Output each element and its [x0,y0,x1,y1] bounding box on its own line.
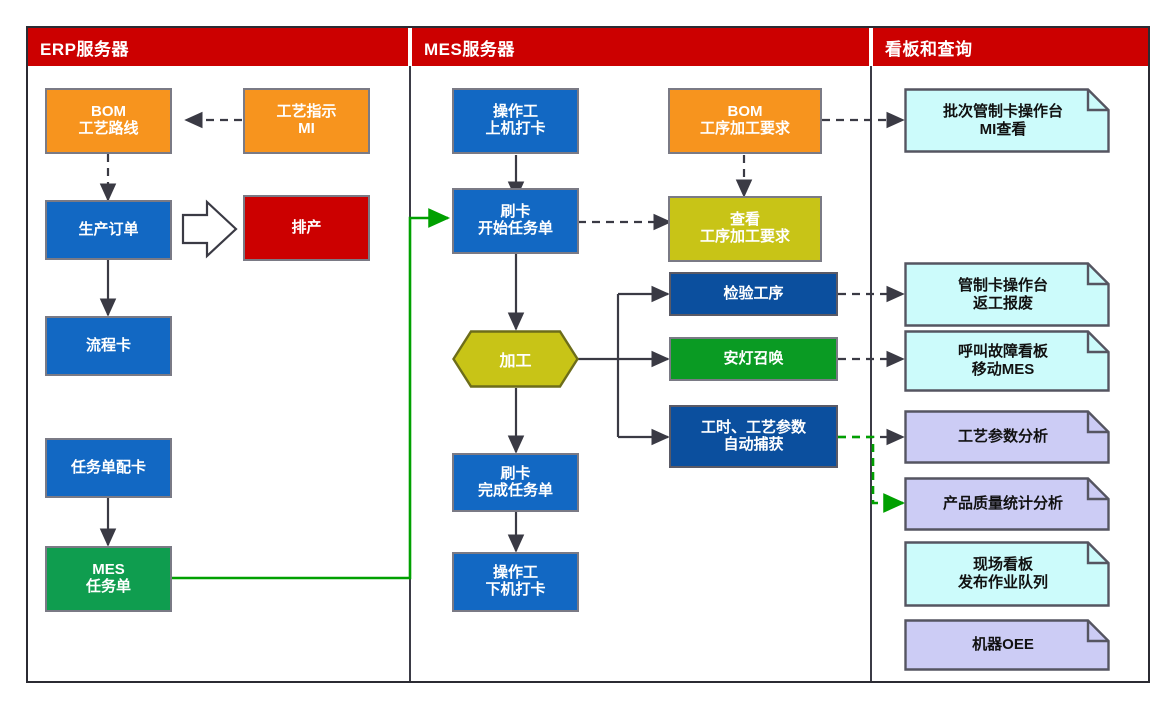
node-swipe-finish-task[interactable]: 刷卡 完成任务单 [452,453,579,512]
card-product-quality-stats[interactable]: 产品质量统计分析 [904,477,1110,531]
node-inspection-operation[interactable]: 检验工序 [669,272,838,316]
card-shopfloor-board-queue[interactable]: 现场看板 发布作业队列 [904,541,1110,607]
node-task-order-card-assign[interactable]: 任务单配卡 [45,438,172,498]
flowchart-canvas: ERP服务器 MES服务器 看板和查询 [0,0,1176,701]
node-machining-label: 加工 [452,330,579,388]
divider-mes-board [870,66,872,681]
node-machining[interactable]: 加工 [452,330,579,388]
node-production-scheduling[interactable]: 排产 [243,195,370,261]
column-header-board-label: 看板和查询 [885,35,973,60]
card-control-card-console-rework[interactable]: 管制卡操作台 返工报废 [904,262,1110,327]
node-process-card[interactable]: 流程卡 [45,316,172,376]
card-batch-control-card-console-mi-label: 批次管制卡操作台 MI查看 [904,88,1110,153]
node-operator-clock-out[interactable]: 操作工 下机打卡 [452,552,579,612]
node-auto-capture-params[interactable]: 工时、工艺参数 自动捕获 [669,405,838,468]
card-process-param-analysis-label: 工艺参数分析 [904,410,1110,464]
card-batch-control-card-console-mi[interactable]: 批次管制卡操作台 MI查看 [904,88,1110,153]
node-operator-clock-in[interactable]: 操作工 上机打卡 [452,88,579,154]
node-bom-operation-req[interactable]: BOM 工序加工要求 [668,88,822,154]
card-product-quality-stats-label: 产品质量统计分析 [904,477,1110,531]
node-production-order[interactable]: 生产订单 [45,200,172,260]
node-mes-task-order[interactable]: MES 任务单 [45,546,172,612]
column-header-erp-label: ERP服务器 [40,35,129,60]
card-shopfloor-board-queue-label: 现场看板 发布作业队列 [904,541,1110,607]
card-process-param-analysis[interactable]: 工艺参数分析 [904,410,1110,464]
column-header-mes-label: MES服务器 [424,35,515,60]
card-control-card-console-rework-label: 管制卡操作台 返工报废 [904,262,1110,327]
column-header-board: 看板和查询 [873,28,1148,66]
node-view-operation-req[interactable]: 查看 工序加工要求 [668,196,822,262]
card-fault-board-mobile-mes-label: 呼叫故障看板 移动MES [904,330,1110,392]
node-andon-call[interactable]: 安灯召唤 [669,337,838,381]
node-swipe-start-task[interactable]: 刷卡 开始任务单 [452,188,579,254]
column-header-mes: MES服务器 [412,28,869,66]
node-bom-process-route[interactable]: BOM 工艺路线 [45,88,172,154]
node-process-instruction-mi[interactable]: 工艺指示 MI [243,88,370,154]
column-header-erp: ERP服务器 [28,28,408,66]
divider-erp-mes [409,66,411,681]
card-machine-oee[interactable]: 机器OEE [904,619,1110,671]
card-fault-board-mobile-mes[interactable]: 呼叫故障看板 移动MES [904,330,1110,392]
card-machine-oee-label: 机器OEE [904,619,1110,671]
